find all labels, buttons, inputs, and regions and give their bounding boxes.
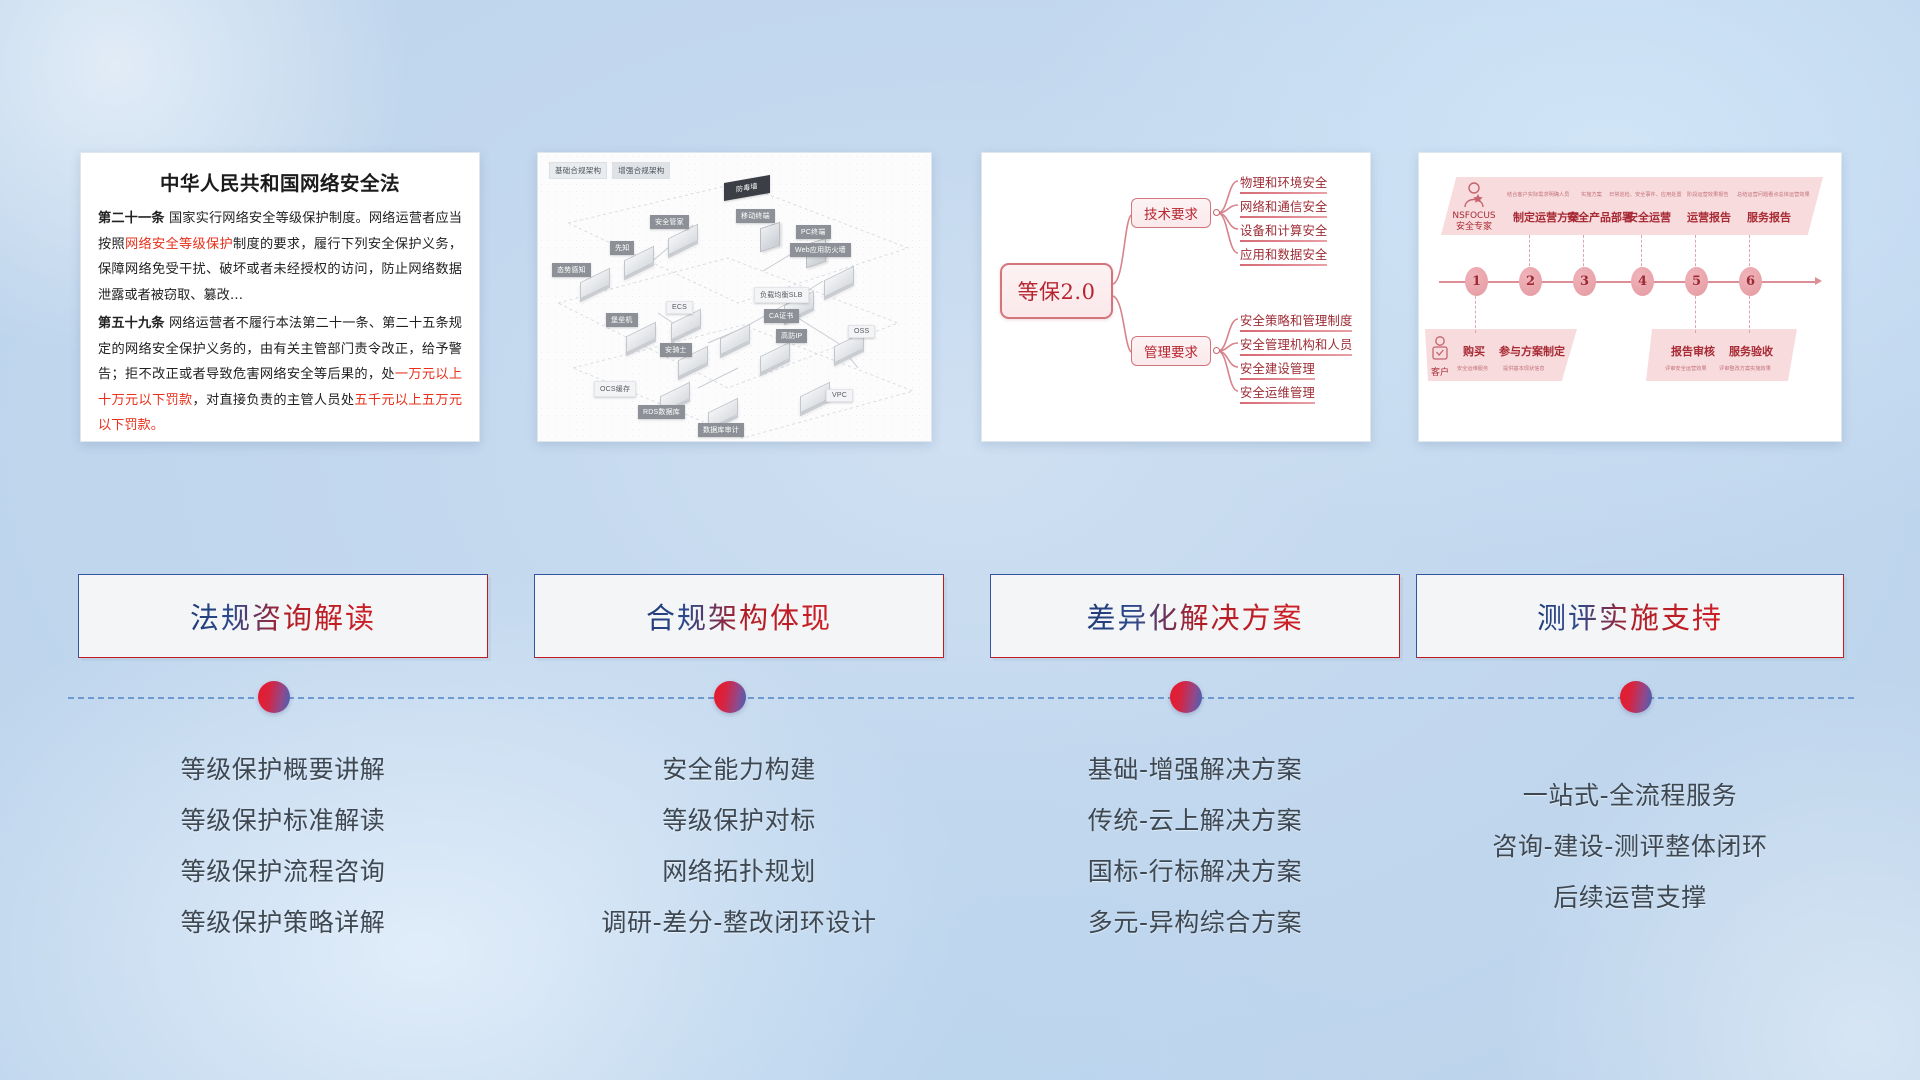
mindmap-leaf-app-data-security[interactable]: 应用和数据安全 <box>1240 245 1327 266</box>
timeline-node-2[interactable]: 2 <box>1519 267 1542 296</box>
section-title-box-3[interactable]: 差异化解决方案 <box>990 574 1400 658</box>
list-item: 多元-异构综合方案 <box>990 897 1400 948</box>
list-item: 传统-云上解决方案 <box>990 795 1400 846</box>
section-title-box-2[interactable]: 合规架构体现 <box>534 574 944 658</box>
timeline-marker-4[interactable] <box>1620 681 1652 713</box>
bottom-step-sub-1: 安全运维服务 <box>1457 365 1488 372</box>
list-item: 等级保护流程咨询 <box>78 846 488 897</box>
node-label-anqishi: 安骑士 <box>660 343 692 357</box>
law-article-number: 第二十一条 <box>98 211 165 226</box>
mindmap-leaf-security-org-personnel[interactable]: 安全管理机构和人员 <box>1240 335 1352 356</box>
connector-7 <box>1695 291 1696 333</box>
bottom-step-title-6: 服务验收 <box>1729 343 1773 359</box>
node-label-bastion-host: 堡垒机 <box>606 313 638 327</box>
top-step-sub-1: 结合客户实际需求明确人员 <box>1507 191 1569 198</box>
law-body: 中华人民共和国网络安全法 第二十一条 国家实行网络安全等级保护制度。网络运营者应… <box>81 153 479 442</box>
mindmap-collapse-icon-management[interactable] <box>1213 347 1220 354</box>
card-compliance-architecture[interactable]: 基础合规架构 增强合规架构 <box>537 152 932 442</box>
law-title: 中华人民共和国网络安全法 <box>98 167 462 196</box>
bottom-step-sub-5: 评审安全运营效果 <box>1665 365 1707 372</box>
mindmap: 等保2.0 技术要求 管理要求 物理和环境安全 网络和通信安全 设备和计算安全 … <box>982 153 1370 441</box>
bottom-step-sub-6: 评审整改方案实施效果 <box>1719 365 1771 372</box>
section-title-label-4: 测评实施支持 <box>1537 595 1723 637</box>
customer-role-label: 客户 <box>1427 365 1453 378</box>
section-title-box-1[interactable]: 法规咨询解读 <box>78 574 488 658</box>
section-title-row: 法规咨询解读 合规架构体现 差异化解决方案 测评实施支持 <box>0 574 1920 662</box>
connector-3 <box>1583 235 1584 271</box>
section-items-4: 一站式-全流程服务 咨询-建设-测评整体闭环 后续运营支撑 <box>1416 770 1844 923</box>
node-label-oss: OSS <box>848 325 875 338</box>
reference-cards-row: 中华人民共和国网络安全法 第二十一条 国家实行网络安全等级保护制度。网络运营者应… <box>0 152 1920 452</box>
section-items-2: 安全能力构建 等级保护对标 网络拓扑规划 调研-差分-整改闭环设计 <box>534 744 944 948</box>
node-label-security-butler: 安全管家 <box>650 215 689 229</box>
node-label-vpc: VPC <box>826 389 853 402</box>
node-label-ecs: ECS <box>666 301 693 314</box>
list-item: 基础-增强解决方案 <box>990 744 1400 795</box>
list-item: 等级保护策略详解 <box>78 897 488 948</box>
service-timeline: NSFOCUS 安全专家 结合客户实际需求明确人员 制定运营方案 实施方案 安全… <box>1419 153 1841 441</box>
provider-role-label: NSFOCUS 安全专家 <box>1443 211 1505 233</box>
card-mindmap-dengbao[interactable]: 等保2.0 技术要求 管理要求 物理和环境安全 网络和通信安全 设备和计算安全 … <box>981 152 1371 442</box>
timeline-arrow-icon <box>1815 277 1822 285</box>
timeline-marker-1[interactable] <box>258 681 290 713</box>
connector-4 <box>1641 235 1642 271</box>
node-label-ca-certificate: CA证书 <box>764 309 799 323</box>
timeline-marker-2[interactable] <box>714 681 746 713</box>
node-label-mobile-terminal: 移动终端 <box>736 209 775 223</box>
bottom-step-title-5: 报告审核 <box>1671 343 1715 359</box>
top-step-sub-5: 总结运营问题看点总体运营效果 <box>1737 191 1810 198</box>
network-diagram: 基础合规架构 增强合规架构 <box>538 153 931 441</box>
mindmap-leaf-network-comm-security[interactable]: 网络和通信安全 <box>1240 197 1327 218</box>
connector-8 <box>1749 291 1750 333</box>
node-label-anti-ddos-ip: 高防IP <box>776 329 807 343</box>
top-step-title-5: 服务报告 <box>1747 209 1791 225</box>
list-item: 咨询-建设-测评整体闭环 <box>1416 821 1844 872</box>
customer-avatar-icon <box>1429 335 1451 365</box>
section-items-3: 基础-增强解决方案 传统-云上解决方案 国标-行标解决方案 多元-异构综合方案 <box>990 744 1400 948</box>
connector-5 <box>1695 235 1696 271</box>
timeline-marker-3[interactable] <box>1170 681 1202 713</box>
section-title-label-1: 法规咨询解读 <box>190 595 376 637</box>
expert-avatar-icon <box>1461 181 1487 211</box>
node-label-database-audit: 数据库审计 <box>698 423 744 437</box>
connector-2 <box>1529 235 1530 271</box>
customer-band-right <box>1646 329 1797 381</box>
node-label-slb: 负载均衡SLB <box>754 287 809 303</box>
list-item: 安全能力构建 <box>534 744 944 795</box>
law-text: ，对直接负责的主管人员处 <box>192 393 354 408</box>
node-label-ocs-cache: OCS缓存 <box>594 381 636 397</box>
card-service-timeline[interactable]: NSFOCUS 安全专家 结合客户实际需求明确人员 制定运营方案 实施方案 安全… <box>1418 152 1842 442</box>
bottom-step-title-1: 购买 <box>1463 343 1485 359</box>
list-item: 网络拓扑规划 <box>534 846 944 897</box>
list-item: 等级保护标准解读 <box>78 795 488 846</box>
list-item: 后续运营支撑 <box>1416 872 1844 923</box>
section-title-label-2: 合规架构体现 <box>646 595 832 637</box>
timeline-node-5[interactable]: 5 <box>1685 267 1708 296</box>
mindmap-collapse-icon-technical[interactable] <box>1213 209 1220 216</box>
timeline-dashed-line <box>68 697 1854 699</box>
list-item: 等级保护概要讲解 <box>78 744 488 795</box>
timeline-axis <box>1439 281 1819 283</box>
connector-1 <box>1475 291 1476 333</box>
top-step-title-4: 运营报告 <box>1687 209 1731 225</box>
mindmap-leaf-security-construction[interactable]: 安全建设管理 <box>1240 359 1315 380</box>
mindmap-leaf-device-compute-security[interactable]: 设备和计算安全 <box>1240 221 1327 242</box>
section-title-box-4[interactable]: 测评实施支持 <box>1416 574 1844 658</box>
bottom-step-title-2: 参与方案制定 <box>1499 343 1565 359</box>
list-item: 国标-行标解决方案 <box>990 846 1400 897</box>
card-cybersecurity-law[interactable]: 中华人民共和国网络安全法 第二十一条 国家实行网络安全等级保护制度。网络运营者应… <box>80 152 480 442</box>
bottom-step-sub-2: 提供基本现状信息 <box>1503 365 1545 372</box>
mindmap-root-node[interactable]: 等保2.0 <box>1000 263 1113 319</box>
timeline-node-3[interactable]: 3 <box>1573 267 1596 296</box>
law-paragraph-1: 第二十一条 国家实行网络安全等级保护制度。网络运营者应当按照网络安全等级保护制度… <box>98 206 462 308</box>
list-item: 调研-差分-整改闭环设计 <box>534 897 944 948</box>
provider-role-line1: NSFOCUS <box>1452 211 1495 221</box>
law-article-number: 第五十九条 <box>98 316 165 331</box>
provider-role-line2: 安全专家 <box>1456 222 1492 232</box>
mindmap-leaf-security-policy-system[interactable]: 安全策略和管理制度 <box>1240 311 1352 332</box>
timeline-node-1[interactable]: 1 <box>1465 267 1488 296</box>
node-label-situational-awareness: 态势感知 <box>552 263 591 277</box>
timeline-node-6[interactable]: 6 <box>1739 267 1762 296</box>
section-title-label-3: 差异化解决方案 <box>1086 595 1303 637</box>
section-items-1: 等级保护概要讲解 等级保护标准解读 等级保护流程咨询 等级保护策略详解 <box>78 744 488 948</box>
top-step-sub-3: 日常巡检、安全事件、应用处置 <box>1609 191 1682 198</box>
top-step-sub-4: 阶段运营效果报告 <box>1687 191 1729 198</box>
top-step-title-3: 安全运营 <box>1627 209 1671 225</box>
law-paragraph-2: 第五十九条 网络运营者不履行本法第二十一条、第二十五条规定的网络安全保护义务的，… <box>98 311 462 439</box>
list-item: 等级保护对标 <box>534 795 944 846</box>
law-highlight-text: 网络安全等级保护 <box>125 237 233 252</box>
node-label-pc-terminal: PC终端 <box>796 225 831 239</box>
top-step-title-2: 安全产品部署 <box>1567 209 1633 225</box>
node-label-rds-database: RDS数据库 <box>638 405 685 419</box>
list-item: 一站式-全流程服务 <box>1416 770 1844 821</box>
top-step-sub-2: 实施方案 <box>1581 191 1602 198</box>
node-label-waf: Web应用防火墙 <box>790 243 851 257</box>
mindmap-branch-management[interactable]: 管理要求 <box>1131 336 1211 366</box>
timeline-node-4[interactable]: 4 <box>1631 267 1654 296</box>
mindmap-branch-technical[interactable]: 技术要求 <box>1131 198 1211 228</box>
mindmap-leaf-security-operations[interactable]: 安全运维管理 <box>1240 383 1315 404</box>
connector-6 <box>1749 235 1750 271</box>
mindmap-leaf-physical-env-security[interactable]: 物理和环境安全 <box>1240 173 1327 194</box>
node-label-xianzhi: 先知 <box>610 241 634 255</box>
timeline-connector <box>68 697 1854 699</box>
